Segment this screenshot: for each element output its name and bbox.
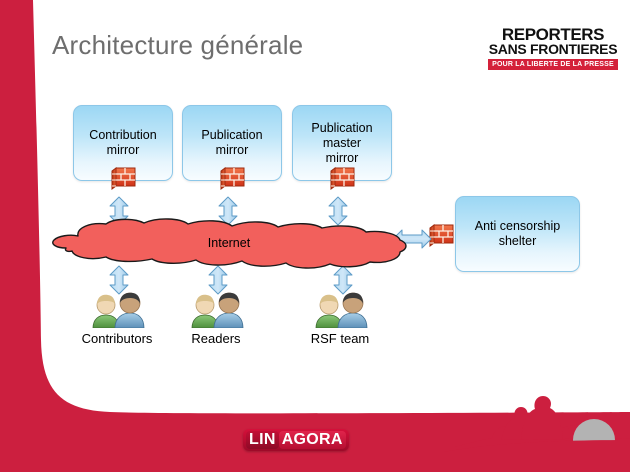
- node-label: Contribution mirror: [89, 128, 156, 158]
- node-label: Publication mirror: [201, 128, 262, 158]
- people-icon: [89, 292, 145, 328]
- firewall-icon: [219, 165, 247, 191]
- node-label: Publication master mirror: [311, 121, 372, 166]
- firewall-icon: [110, 165, 138, 191]
- slide-canvas: Architecture générale REPORTERS SANS FRO…: [0, 0, 630, 472]
- firewall-icon: [329, 165, 357, 191]
- rsf-logo-line2: SANS FRONTIERES: [488, 42, 618, 57]
- people-icon: [312, 292, 368, 328]
- actor-label-rsf-team: RSF team: [275, 331, 405, 346]
- people-icon: [188, 292, 244, 328]
- node-anti-censorship-shelter[interactable]: Anti censorship shelter: [455, 196, 580, 272]
- rsf-logo: REPORTERS SANS FRONTIERES POUR LA LIBERT…: [488, 27, 618, 70]
- linagora-logo-lin: LIN: [246, 431, 279, 449]
- firewall-icon: [428, 222, 456, 248]
- internet-cloud-label: Internet: [48, 236, 410, 250]
- rsf-logo-line1: REPORTERS: [488, 27, 618, 42]
- page-title: Architecture générale: [52, 30, 303, 61]
- actor-label-readers: Readers: [151, 331, 281, 346]
- rsf-logo-tagline: POUR LA LIBERTE DE LA PRESSE: [488, 59, 618, 70]
- linagora-logo: LINAGORA: [243, 429, 349, 451]
- node-label: Anti censorship shelter: [475, 219, 560, 249]
- linagora-logo-agora: AGORA: [279, 431, 346, 449]
